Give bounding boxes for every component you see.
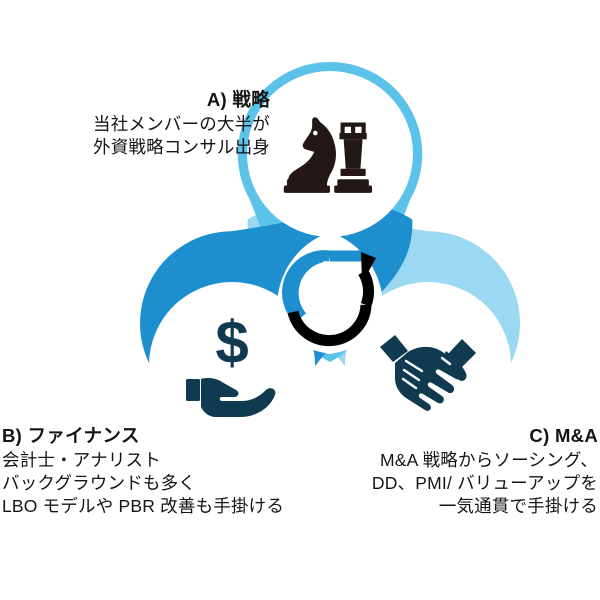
callout-finance-line-2: バックグラウンドも多く bbox=[2, 472, 284, 495]
callout-strategy-line-2: 外資戦略コンサル出身 bbox=[93, 136, 270, 159]
callout-mna-line-1: M&A 戦略からソーシング、 bbox=[372, 449, 598, 472]
callout-finance-line-1: 会計士・アナリスト bbox=[2, 449, 284, 472]
callout-mna-title: C) M&A bbox=[372, 424, 598, 448]
callout-mna-line-3: 一気通貫で手掛ける bbox=[372, 495, 598, 518]
callout-mna-line-2: DD、PMI/ バリューアップを bbox=[372, 472, 598, 495]
callout-mna: C) M&A M&A 戦略からソーシング、 DD、PMI/ バリューアップを 一… bbox=[372, 424, 598, 517]
callout-finance: B) ファイナンス 会計士・アナリスト バックグラウンドも多く LBO モデルや… bbox=[2, 424, 284, 517]
callout-strategy-title: A) 戦略 bbox=[93, 88, 270, 112]
callout-strategy-line-1: 当社メンバーの大半が bbox=[93, 113, 270, 136]
callout-strategy: A) 戦略 当社メンバーの大半が 外資戦略コンサル出身 bbox=[93, 88, 270, 159]
callout-finance-title: B) ファイナンス bbox=[2, 424, 284, 448]
svg-text:$: $ bbox=[215, 309, 248, 376]
infographic-canvas: $ bbox=[0, 0, 600, 600]
callout-finance-line-3: LBO モデルや PBR 改善も手掛ける bbox=[2, 495, 284, 518]
